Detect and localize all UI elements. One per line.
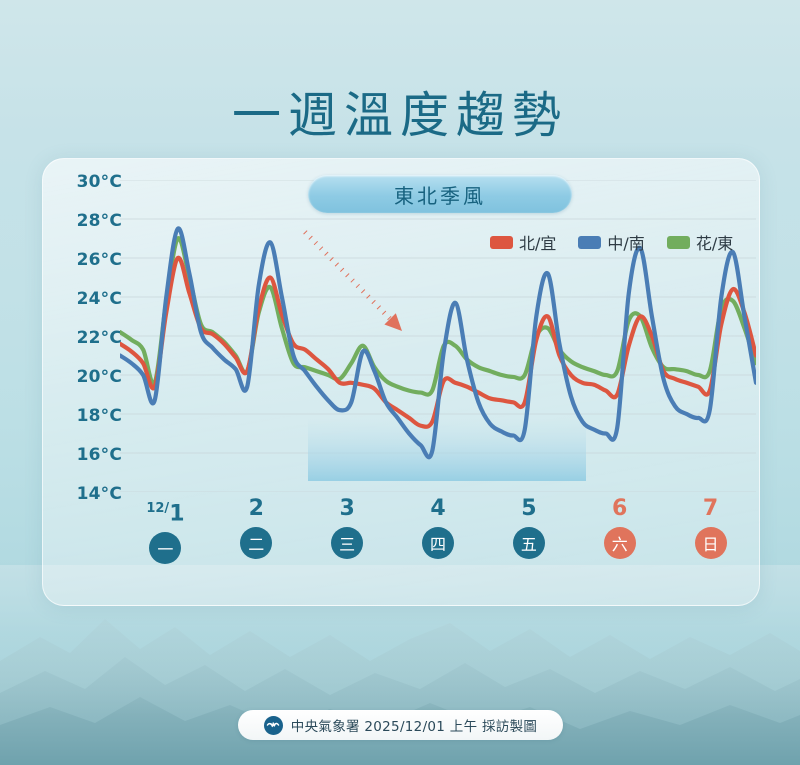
x-axis-date-7: 7	[666, 496, 756, 522]
weekday-badge-二: 二	[240, 527, 272, 559]
y-tick-18: 18°C	[54, 406, 122, 426]
x-axis: 12/1一2二3三4四5五6六7日	[120, 496, 756, 566]
x-axis-date-5: 5	[484, 496, 574, 522]
x-axis-day-3[interactable]: 3三	[302, 496, 392, 559]
y-tick-30: 30°C	[54, 172, 122, 192]
y-axis: 30°C 28°C 26°C 24°C 22°C 20°C 18°C 16°C …	[52, 172, 122, 502]
x-axis-day-4[interactable]: 4四	[393, 496, 483, 559]
cold-period-shading	[308, 418, 586, 481]
x-axis-day-5[interactable]: 5五	[484, 496, 574, 559]
legend-swatch-north-yilan	[490, 236, 513, 249]
trend-arrow-shaft	[305, 232, 393, 322]
x-axis-date-4: 4	[393, 496, 483, 522]
weekday-badge-四: 四	[422, 527, 454, 559]
temperature-chart	[120, 180, 756, 492]
y-tick-26: 26°C	[54, 250, 122, 270]
trend-arrow-head	[384, 313, 402, 331]
weekday-badge-五: 五	[513, 527, 545, 559]
x-axis-month: 12/	[146, 501, 169, 516]
y-tick-28: 28°C	[54, 211, 122, 231]
legend-label-hualien-taitung: 花/東	[696, 230, 733, 254]
monsoon-banner: 東北季風	[308, 175, 572, 213]
legend-item-north-yilan[interactable]: 北/宜	[490, 230, 556, 254]
y-tick-24: 24°C	[54, 289, 122, 309]
legend-item-hualien-taitung[interactable]: 花/東	[667, 230, 733, 254]
legend-swatch-hualien-taitung	[667, 236, 690, 249]
x-axis-day-6[interactable]: 6六	[575, 496, 665, 559]
downward-trend-arrow	[305, 232, 402, 331]
weekday-badge-日: 日	[695, 527, 727, 559]
page-title: 一週溫度趨勢	[0, 76, 800, 147]
x-axis-date-6: 6	[575, 496, 665, 522]
footer-text: 中央氣象署 2025/12/01 上午 採訪製圖	[291, 715, 537, 735]
y-tick-20: 20°C	[54, 367, 122, 387]
cwa-logo-icon	[264, 716, 283, 735]
weekday-badge-六: 六	[604, 527, 636, 559]
footer-credit: 中央氣象署 2025/12/01 上午 採訪製圖	[238, 710, 563, 740]
legend-swatch-central-south	[578, 236, 601, 249]
x-axis-date-1: 12/1	[120, 496, 210, 527]
x-axis-date-2: 2	[211, 496, 301, 522]
x-axis-date-3: 3	[302, 496, 392, 522]
y-tick-22: 22°C	[54, 328, 122, 348]
weekday-badge-一: 一	[149, 532, 181, 564]
y-tick-16: 16°C	[54, 445, 122, 465]
chart-legend: 北/宜 中/南 花/東	[490, 230, 733, 254]
y-tick-14: 14°C	[54, 484, 122, 504]
chart-series	[120, 228, 756, 457]
monsoon-banner-label: 東北季風	[394, 180, 486, 209]
x-axis-day-2[interactable]: 2二	[211, 496, 301, 559]
legend-label-central-south: 中/南	[607, 230, 644, 254]
legend-label-north-yilan: 北/宜	[519, 230, 556, 254]
legend-item-central-south[interactable]: 中/南	[578, 230, 644, 254]
x-axis-day-1[interactable]: 12/1一	[120, 496, 210, 564]
weekday-badge-三: 三	[331, 527, 363, 559]
x-axis-day-7[interactable]: 7日	[666, 496, 756, 559]
series-line-central-south	[120, 228, 756, 457]
